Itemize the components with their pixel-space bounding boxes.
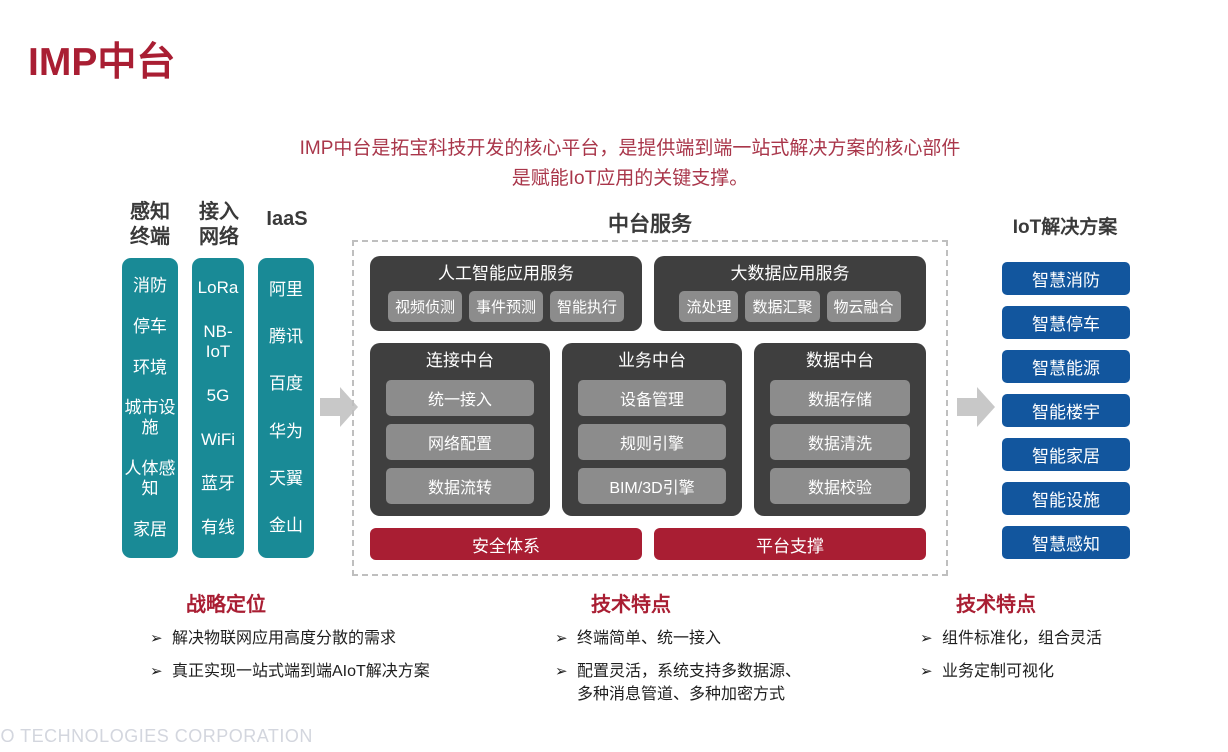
list-item: 有线 — [201, 518, 235, 538]
subtitle-line-2: 是赋能IoT应用的关键支撑。 — [180, 164, 1080, 194]
pill-item[interactable]: 智能执行 — [550, 291, 624, 322]
list-item: ➢ 配置灵活，系统支持多数据源、 多种消息管道、多种加密方式 — [555, 660, 935, 706]
list-item: 阿里 — [269, 280, 303, 300]
list-item: 停车 — [133, 317, 167, 337]
section-title: 技术特点 — [956, 588, 1220, 617]
arrow-bullet-icon: ➢ — [150, 627, 172, 650]
list-item: 百度 — [269, 374, 303, 394]
pill-item[interactable]: 数据存储 — [770, 380, 910, 416]
bullet-text-line-1: 配置灵活，系统支持多数据源、 — [577, 663, 801, 680]
list-item: ➢ 真正实现一站式端到端AIoT解决方案 — [150, 660, 550, 683]
list-item: ➢ 终端简单、统一接入 — [555, 627, 935, 650]
bullet-text: 真正实现一站式端到端AIoT解决方案 — [172, 660, 550, 683]
bullet-text: 配置灵活，系统支持多数据源、 多种消息管道、多种加密方式 — [577, 660, 935, 706]
card-title: 业务中台 — [562, 350, 742, 372]
list-item: 天翼 — [269, 469, 303, 489]
bullet-text: 组件标准化，组合灵活 — [942, 627, 1220, 650]
pill-item[interactable]: 规则引擎 — [578, 424, 726, 460]
column-header-access-network: 接入 网络 — [190, 200, 248, 250]
list-item: 人体感知 — [122, 459, 178, 499]
center-platform-container: 人工智能应用服务 视频侦测 事件预测 智能执行 大数据应用服务 流处理 数据汇聚… — [352, 240, 948, 576]
arrow-bullet-icon: ➢ — [555, 627, 577, 650]
list-item: 蓝牙 — [201, 474, 235, 494]
column-header-line-1: 感知 — [118, 200, 182, 225]
card-title: 大数据应用服务 — [654, 263, 926, 285]
list-item: 消防 — [133, 276, 167, 296]
solution-item[interactable]: 智能家居 — [1002, 438, 1130, 471]
card-data-platform: 数据中台 数据存储 数据清洗 数据校验 — [754, 343, 926, 516]
pill-item[interactable]: 数据清洗 — [770, 424, 910, 460]
list-item: WiFi — [201, 430, 235, 450]
list-item: NB-IoT — [192, 322, 244, 362]
card-title: 数据中台 — [754, 350, 926, 372]
list-item: 城市设施 — [122, 398, 178, 438]
pill-item[interactable]: 设备管理 — [578, 380, 726, 416]
card-title: 连接中台 — [370, 350, 550, 372]
subtitle-line-1: IMP中台是拓宝科技开发的核心平台，是提供端到端一站式解决方案的核心部件 — [180, 134, 1080, 164]
solution-item[interactable]: 智慧消防 — [1002, 262, 1130, 295]
column-header-line-2: 网络 — [190, 225, 248, 250]
bullet-text: 业务定制可视化 — [942, 660, 1220, 683]
list-item: 5G — [207, 386, 230, 406]
footer-company-name: BO TECHNOLOGIES CORPORATION — [0, 726, 313, 747]
section-tech-features-middle: 技术特点 ➢ 终端简单、统一接入 ➢ 配置灵活，系统支持多数据源、 多种消息管道… — [555, 588, 935, 716]
pill-item[interactable]: 统一接入 — [386, 380, 534, 416]
access-network-column: LoRa NB-IoT 5G WiFi 蓝牙 有线 — [192, 258, 244, 558]
solution-item[interactable]: 智慧感知 — [1002, 526, 1130, 559]
card-connection-platform: 连接中台 统一接入 网络配置 数据流转 — [370, 343, 550, 516]
card-item-row: 流处理 数据汇聚 物云融合 — [654, 291, 926, 322]
page-title: IMP中台 — [28, 42, 175, 85]
sensing-terminal-column: 消防 停车 环境 城市设施 人体感知 家居 — [122, 258, 178, 558]
center-services-header: 中台服务 — [540, 208, 760, 238]
slide-root: IMP中台 IMP中台是拓宝科技开发的核心平台，是提供端到端一站式解决方案的核心… — [0, 0, 1228, 752]
pill-item[interactable]: 网络配置 — [386, 424, 534, 460]
card-title: 人工智能应用服务 — [370, 263, 642, 285]
bullet-text-line-2: 多种消息管道、多种加密方式 — [577, 683, 935, 706]
pill-item[interactable]: 流处理 — [679, 291, 738, 322]
pill-item[interactable]: 视频侦测 — [388, 291, 462, 322]
list-item: 华为 — [269, 422, 303, 442]
pill-item[interactable]: 数据流转 — [386, 468, 534, 504]
arrow-bullet-icon: ➢ — [920, 660, 942, 683]
column-header-line-1: IaaS — [256, 207, 318, 232]
list-item: 金山 — [269, 516, 303, 536]
arrow-bullet-icon: ➢ — [555, 660, 577, 683]
section-title: 技术特点 — [591, 588, 935, 617]
card-item-stack: 统一接入 网络配置 数据流转 — [386, 380, 534, 504]
list-item: ➢ 解决物联网应用高度分散的需求 — [150, 627, 550, 650]
card-item-row: 视频侦测 事件预测 智能执行 — [370, 291, 642, 322]
iot-solutions-list: 智慧消防 智慧停车 智慧能源 智能楼宇 智能家居 智能设施 智慧感知 — [1002, 262, 1130, 570]
list-item: 腾讯 — [269, 327, 303, 347]
solution-item[interactable]: 智能设施 — [1002, 482, 1130, 515]
bar-platform-support[interactable]: 平台支撑 — [654, 528, 926, 560]
solution-item[interactable]: 智能楼宇 — [1002, 394, 1130, 427]
list-item: 环境 — [133, 358, 167, 378]
pill-item[interactable]: 物云融合 — [827, 291, 901, 322]
subtitle: IMP中台是拓宝科技开发的核心平台，是提供端到端一站式解决方案的核心部件 是赋能… — [180, 134, 1080, 194]
card-item-stack: 设备管理 规则引擎 BIM/3D引擎 — [578, 380, 726, 504]
column-header-iaas: IaaS — [256, 207, 318, 232]
bullet-text: 解决物联网应用高度分散的需求 — [172, 627, 550, 650]
iaas-column: 阿里 腾讯 百度 华为 天翼 金山 — [258, 258, 314, 558]
section-title: 战略定位 — [186, 588, 550, 617]
column-header-line-2: 终端 — [118, 225, 182, 250]
arrow-right-icon-right — [957, 387, 995, 427]
list-item: ➢ 组件标准化，组合灵活 — [920, 627, 1220, 650]
iot-solutions-header: IoT解决方案 — [975, 212, 1155, 239]
pill-item[interactable]: BIM/3D引擎 — [578, 468, 726, 504]
pill-item[interactable]: 数据校验 — [770, 468, 910, 504]
bullet-text: 终端简单、统一接入 — [577, 627, 935, 650]
pill-item[interactable]: 数据汇聚 — [745, 291, 819, 322]
solution-item[interactable]: 智慧能源 — [1002, 350, 1130, 383]
column-header-line-1: 接入 — [190, 200, 248, 225]
card-bigdata-application-service: 大数据应用服务 流处理 数据汇聚 物云融合 — [654, 256, 926, 331]
section-strategy-positioning: 战略定位 ➢ 解决物联网应用高度分散的需求 ➢ 真正实现一站式端到端AIoT解决… — [150, 588, 550, 693]
column-header-sensing-terminal: 感知 终端 — [118, 200, 182, 250]
section-tech-features-right: 技术特点 ➢ 组件标准化，组合灵活 ➢ 业务定制可视化 — [920, 588, 1220, 693]
arrow-bullet-icon: ➢ — [150, 660, 172, 683]
card-ai-application-service: 人工智能应用服务 视频侦测 事件预测 智能执行 — [370, 256, 642, 331]
card-business-platform: 业务中台 设备管理 规则引擎 BIM/3D引擎 — [562, 343, 742, 516]
list-item: LoRa — [198, 278, 239, 298]
arrow-bullet-icon: ➢ — [920, 627, 942, 650]
pill-item[interactable]: 事件预测 — [469, 291, 543, 322]
list-item: ➢ 业务定制可视化 — [920, 660, 1220, 683]
card-item-stack: 数据存储 数据清洗 数据校验 — [770, 380, 910, 504]
list-item: 家居 — [133, 520, 167, 540]
solution-item[interactable]: 智慧停车 — [1002, 306, 1130, 339]
bar-security-system[interactable]: 安全体系 — [370, 528, 642, 560]
